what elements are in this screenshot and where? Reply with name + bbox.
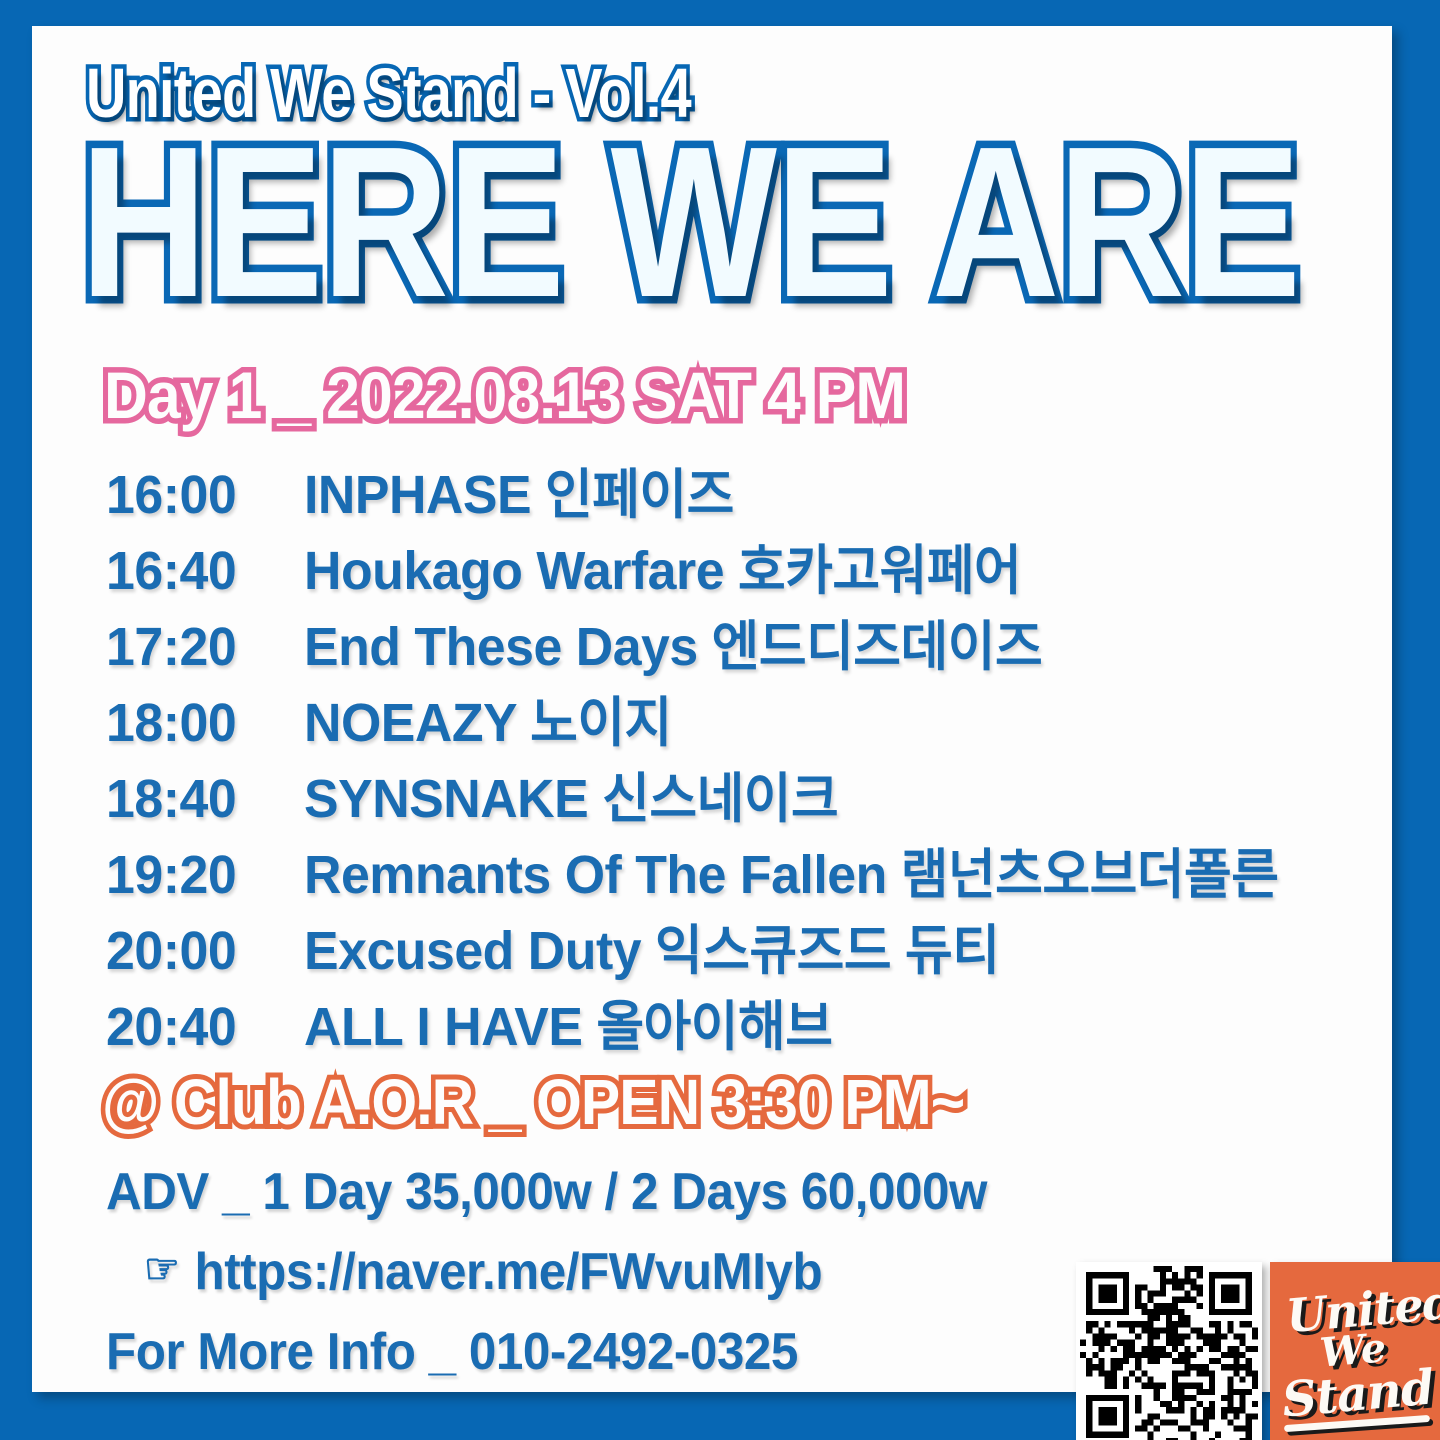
lineup-row: 20:40ALL I HAVE 올아이해브 [106,982,1376,1058]
venue-label: @ Club A.O.R _ OPEN 3:30 PM~ [102,1070,964,1134]
lineup-time: 16:00 [106,464,296,526]
lineup-time: 16:40 [106,540,296,602]
lineup-artist: NOEAZY 노이지 [304,678,672,757]
ticket-link-row[interactable]: ☞https://naver.me/FWvuMIyb [144,1246,822,1298]
lineup-row: 17:20End These Days 엔드디즈데이즈 [106,602,1376,678]
lineup-artist: Remnants Of The Fallen 램넌츠오브더폴른 [304,830,1278,909]
qr-code[interactable] [1076,1262,1262,1440]
lineup-row: 16:40Houkago Warfare 호카고워페어 [106,526,1376,602]
lineup-row: 20:00Excused Duty 익스큐즈드 듀티 [106,906,1376,982]
lineup-artist: INPHASE 인페이즈 [304,450,734,529]
lineup-time: 18:00 [106,692,296,754]
poster-panel: United We Stand - Vol.4 HERE WE ARE Day … [32,26,1392,1392]
lineup-time: 20:00 [106,920,296,982]
qr-code-canvas [1080,1266,1258,1440]
lineup-row: 16:00INPHASE 인페이즈 [106,450,1376,526]
lineup-list: 16:00INPHASE 인페이즈16:40Houkago Warfare 호카… [106,450,1376,1058]
lineup-time: 19:20 [106,844,296,906]
lineup-time: 18:40 [106,768,296,830]
lineup-artist: Houkago Warfare 호카고워페어 [304,526,1021,605]
ticket-link[interactable]: https://naver.me/FWvuMIyb [194,1243,822,1301]
advance-price-label: ADV _ 1 Day 35,000w / 2 Days 60,000w [106,1166,987,1218]
lineup-time: 17:20 [106,616,296,678]
lineup-row: 18:40SYNSNAKE 신스네이크 [106,754,1376,830]
lineup-artist: ALL I HAVE 올아이해브 [304,982,832,1061]
lineup-row: 19:20Remnants Of The Fallen 램넌츠오브더폴른 [106,830,1376,906]
contact-label: For More Info _ 010-2492-0325 [106,1326,798,1378]
lineup-artist: SYNSNAKE 신스네이크 [304,754,838,833]
page-title: HERE WE ARE [80,114,1299,329]
lineup-artist: End These Days 엔드디즈데이즈 [304,602,1042,681]
pointing-hand-icon: ☞ [144,1248,179,1290]
poster-root: United We Stand - Vol.4 HERE WE ARE Day … [0,0,1440,1440]
day-label: Day 1 _ 2022.08.13 SAT 4 PM [104,362,905,428]
lineup-row: 18:00NOEAZY 노이지 [106,678,1376,754]
united-we-stand-logo: United We Stand [1270,1262,1440,1440]
lineup-time: 20:40 [106,996,296,1058]
lineup-artist: Excused Duty 익스큐즈드 듀티 [304,906,999,985]
